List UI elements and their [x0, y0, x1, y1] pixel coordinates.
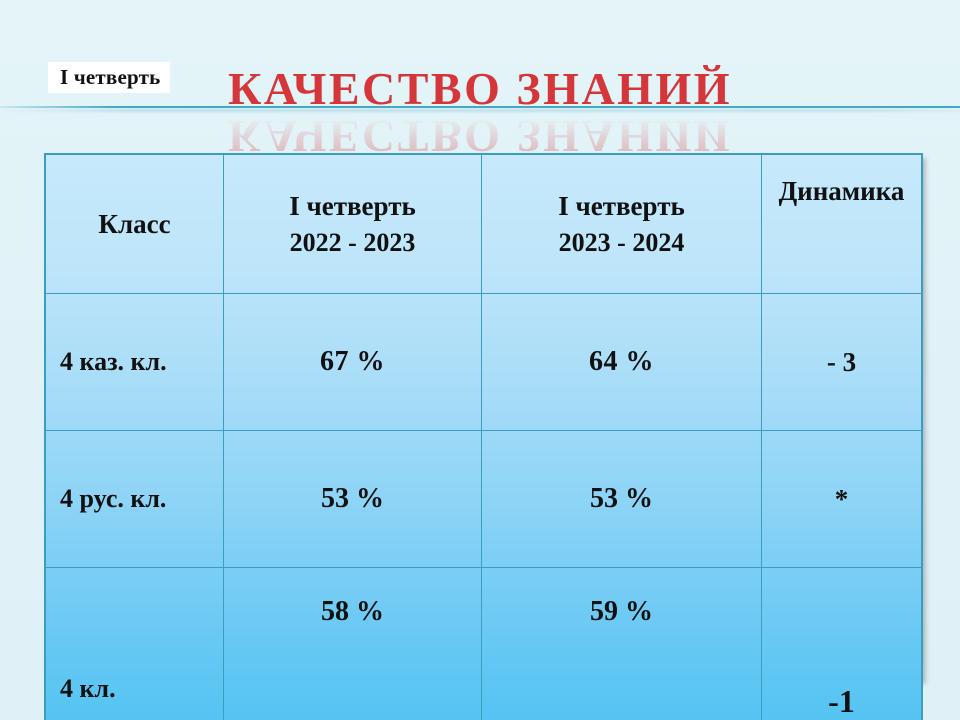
table-row: 4 каз. кл. 67 % 64 % - 3 [46, 294, 922, 431]
header-dynamics: Динамика [762, 155, 922, 294]
header-curr-quarter-years: 2023 - 2024 [482, 225, 761, 260]
header-prev-quarter: I четверть 2022 - 2023 [224, 155, 482, 294]
row-prev-value: 58 % [224, 568, 482, 720]
slide-canvas: I четверть Качество знаний Качество знан… [0, 0, 960, 720]
header-curr-quarter-label: I четверть [558, 191, 685, 221]
row-dynamics-value: - 3 [762, 294, 922, 431]
title-accent-line [0, 106, 960, 108]
quarter-tag: I четверть [48, 62, 170, 93]
row-class-name: 4 рус. кл. [46, 431, 224, 568]
header-class-label: Класс [98, 209, 170, 239]
row-dynamics-value: * [762, 431, 922, 568]
row-prev-value: 53 % [224, 431, 482, 568]
row-class-name: 4 каз. кл. [46, 294, 224, 431]
page-title-reflection: Качество знаний [224, 113, 736, 159]
header-class: Класс [46, 155, 224, 294]
header-dynamics-label: Динамика [779, 176, 905, 206]
title-accent-line-shadow [0, 109, 960, 112]
row-curr-value: 53 % [482, 431, 762, 568]
header-curr-quarter: I четверть 2023 - 2024 [482, 155, 762, 294]
row-curr-value: 59 % [482, 568, 762, 720]
table-row: 4 кл. 58 % 59 % -1 [46, 568, 922, 720]
row-dynamics-value: -1 [762, 568, 922, 720]
knowledge-quality-table: Класс I четверть 2022 - 2023 I четверть … [45, 154, 922, 720]
row-class-name: 4 кл. [46, 568, 224, 720]
header-prev-quarter-years: 2022 - 2023 [224, 225, 481, 260]
header-prev-quarter-label: I четверть [289, 191, 416, 221]
row-curr-value: 64 % [482, 294, 762, 431]
table-row: 4 рус. кл. 53 % 53 % * [46, 431, 922, 568]
row-prev-value: 67 % [224, 294, 482, 431]
table-header-row: Класс I четверть 2022 - 2023 I четверть … [46, 155, 922, 294]
